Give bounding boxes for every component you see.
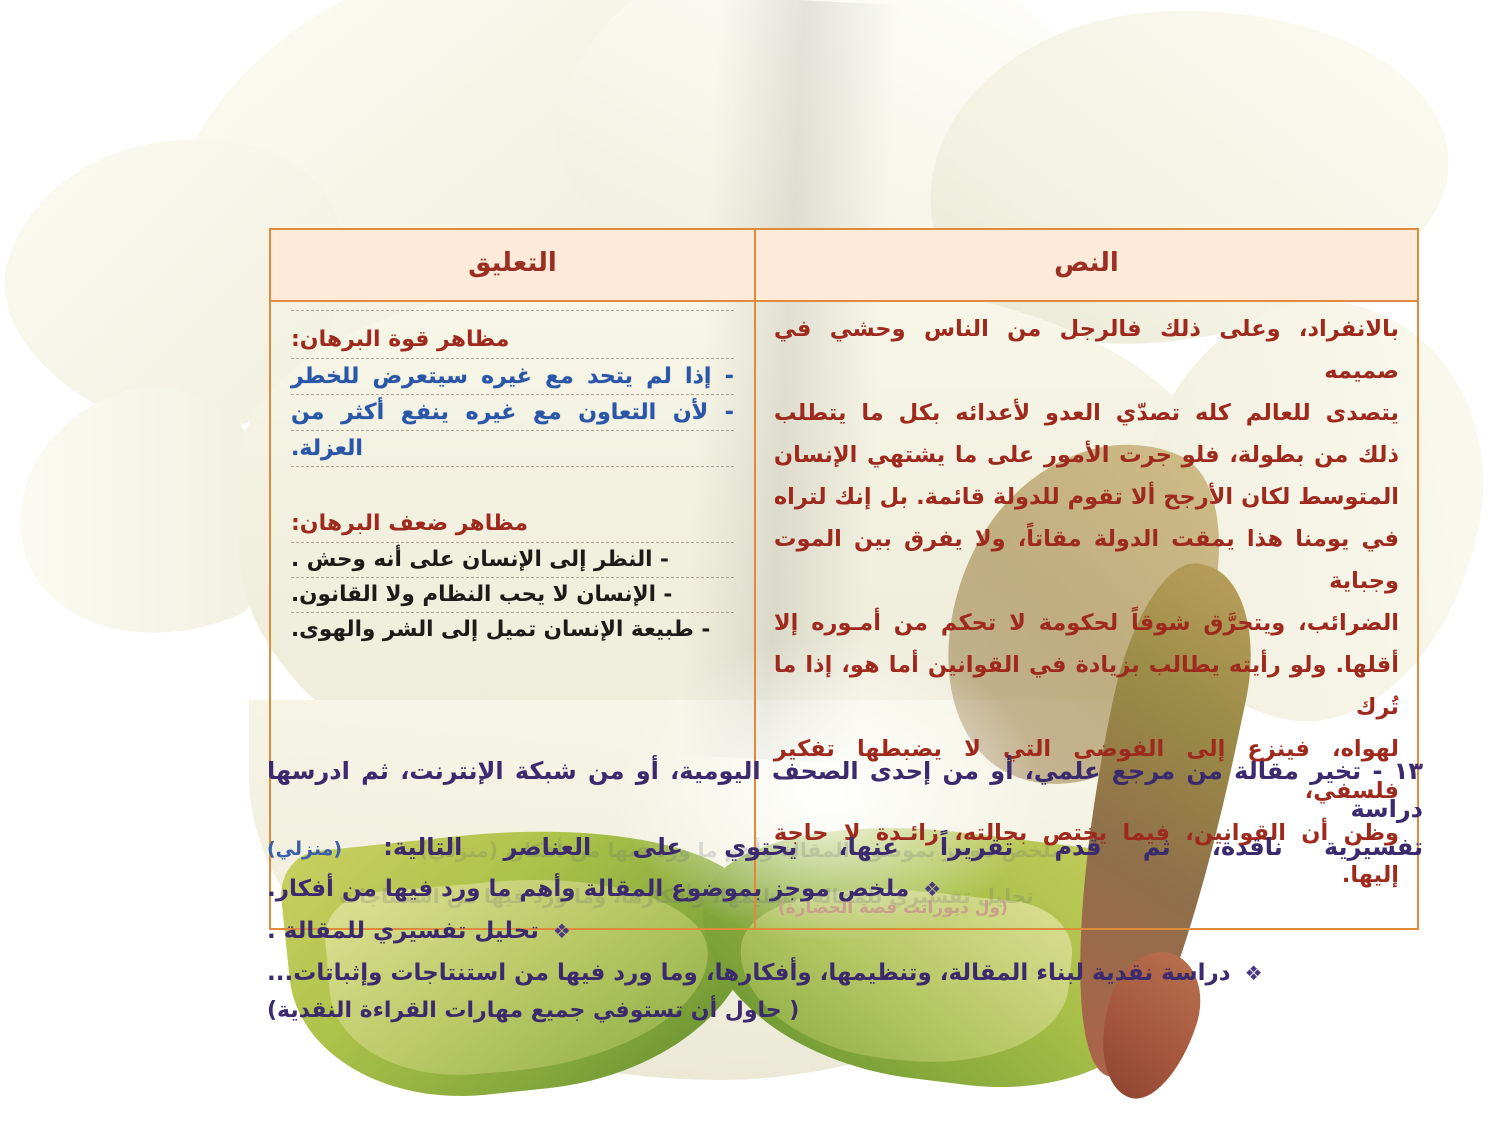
commentary-spacer	[292, 467, 735, 477]
passage-line-4: المتوسط لكان الأرجح ألا تقوم للدولة قائم…	[771, 476, 1404, 518]
exercise-footnote: ( حاول أن تستوفي جميع مهارات القراءة الن…	[268, 998, 1424, 1023]
exercise-number: ١٣ -	[1373, 757, 1424, 785]
exercise-item-1-label: ملخص موجز بموضوع المقالة وأهم ما ورد فيه…	[268, 876, 910, 902]
exercise-question-line-1: ١٣ - تخير مقالة من مرجع علمي، أو من إحدى…	[268, 752, 1424, 828]
exercise-item-2: ❖ تحليل تفسيري للمقالة .	[268, 910, 1424, 952]
rose-petal-left-lower	[0, 353, 315, 677]
table-header-row: النص التعليق	[271, 229, 1419, 301]
diamond-bullet-icon: ❖	[918, 877, 942, 901]
strength-heading: مظاهر قوة البرهان:	[292, 327, 735, 352]
diamond-bullet-icon: ❖	[548, 919, 572, 943]
passage-line-6: الضرائب، ويتحرَّق شوقاً لحكومة لا تحكم م…	[771, 602, 1404, 644]
commentary-content: مظاهر قوة البرهان: - إذا لم يتحد مع غيره…	[286, 308, 741, 651]
exercise-question-text-1: تخير مقالة من مرجع علمي، أو من إحدى الصح…	[268, 757, 1424, 823]
rule-line-top	[292, 310, 735, 311]
exercise-question-line-2: تفسيرية ناقدة، ثم قدم تقريراً عنها، يحتو…	[268, 828, 1424, 868]
passage-line-1: بالانفراد، وعلى ذلك فالرجل من الناس وحشي…	[771, 308, 1404, 392]
weakness-point-2: - الإنسان لا يحب النظام ولا القانون.	[292, 578, 735, 612]
handwritten-note-3: العزلة.	[292, 431, 735, 466]
exercise-question-note: (منزلي)	[268, 838, 343, 860]
handwritten-note-2: - لأن التعاون مع غيره ينفع أكثر من	[292, 395, 735, 430]
exercise-item-1: ❖ ملخص موجز بموضوع المقالة وأهم ما ورد ف…	[268, 868, 1424, 910]
exercise-item-3-label: دراسة نقدية لبناء المقالة، وتنظيمها، وأف…	[268, 960, 1232, 986]
passage-line-7: أقلها. ولو رأيته يطالب بزيادة في القواني…	[771, 644, 1404, 728]
column-header-comment: التعليق	[271, 229, 756, 301]
exercise-question-text-2: تفسيرية ناقدة، ثم قدم تقريراً عنها، يحتو…	[384, 833, 1424, 861]
exercise-item-3: ❖ دراسة نقدية لبناء المقالة، وتنظيمها، و…	[268, 952, 1424, 994]
weakness-point-3: - طبيعة الإنسان تميل إلى الشر والهوى.	[292, 613, 735, 647]
weakness-point-1: - النظر إلى الإنسان على أنه وحش .	[292, 543, 735, 577]
diamond-bullet-icon: ❖	[1240, 961, 1264, 985]
handwritten-note-1: - إذا لم يتحد مع غيره سيتعرض للخطر	[292, 359, 735, 394]
passage-line-2: يتصدى للعالم كله تصدّي العدو لأعدائه بكل…	[771, 392, 1404, 434]
passage-line-5: في يومنا هذا يمقت الدولة مقاتاً، ولا يفر…	[771, 518, 1404, 602]
column-header-text: النص	[756, 229, 1419, 301]
exercise-item-2-label: تحليل تفسيري للمقالة .	[268, 918, 540, 944]
weakness-heading: مظاهر ضعف البرهان:	[292, 511, 735, 536]
exercise-section: ١٣ - تخير مقالة من مرجع علمي، أو من إحدى…	[268, 752, 1424, 1045]
passage-line-3: ذلك من بطولة، فلو جرت الأمور على ما يشته…	[771, 434, 1404, 476]
